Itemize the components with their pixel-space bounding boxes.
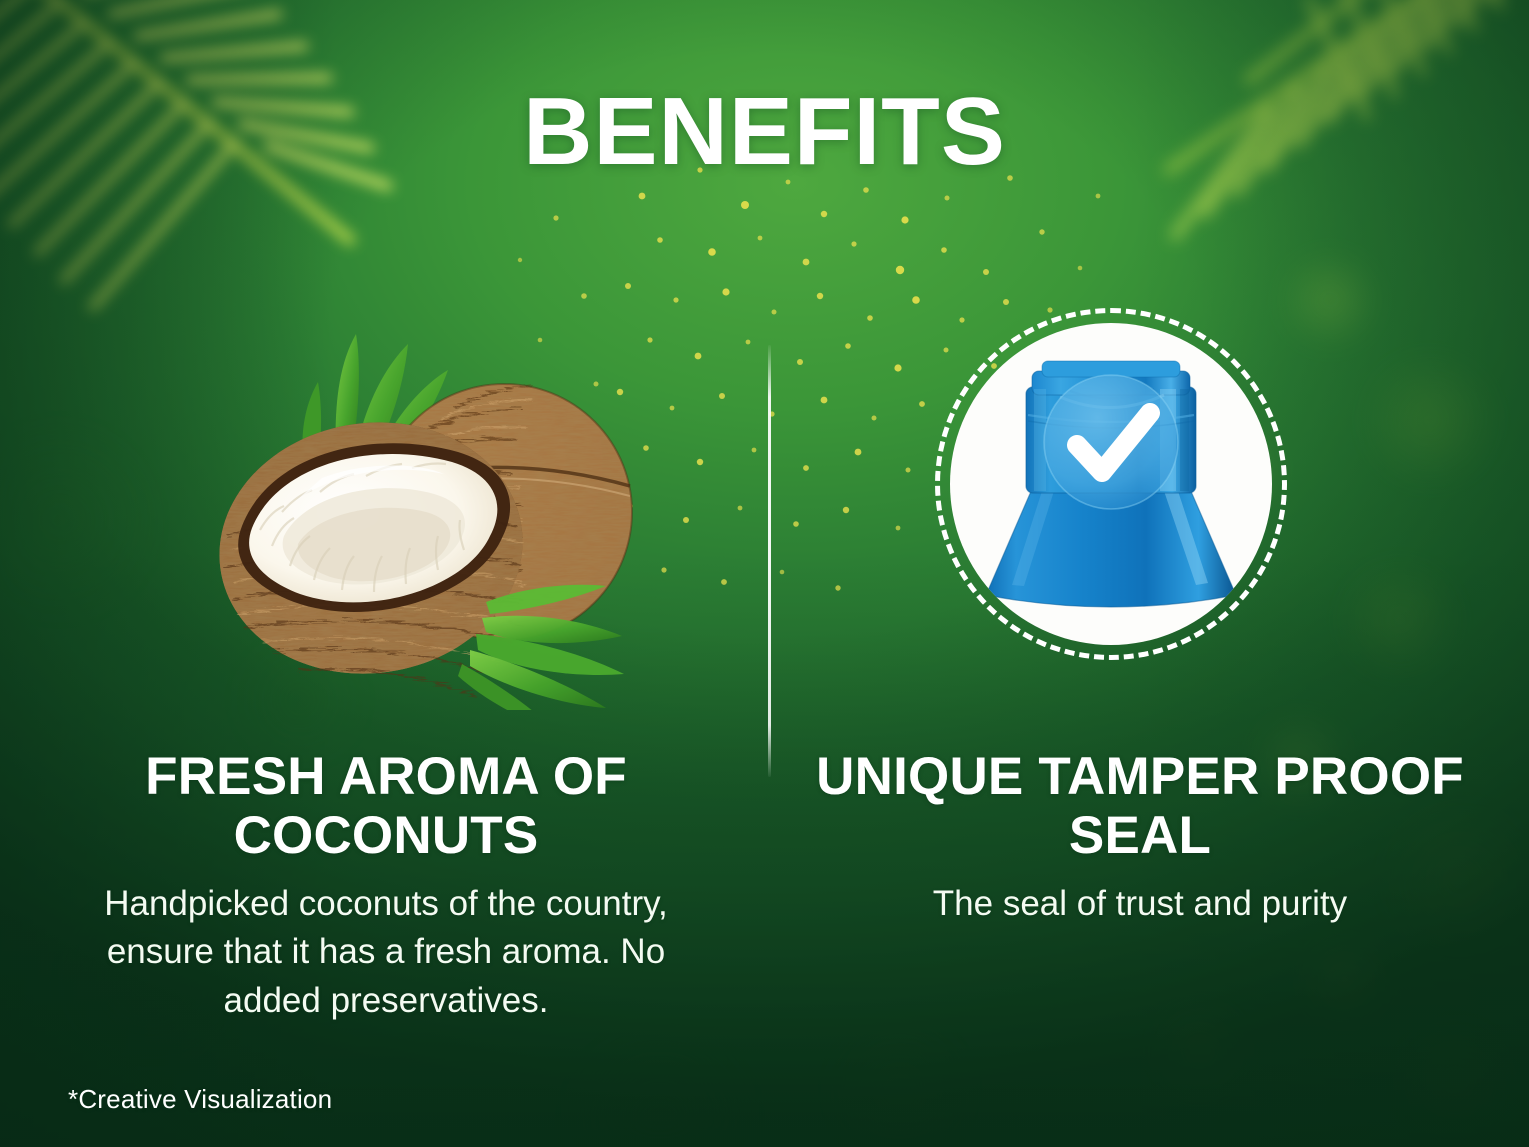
- bottle-cap-check-image: [950, 323, 1272, 645]
- benefit-description-right: The seal of trust and purity: [790, 880, 1490, 928]
- benefit-headline-left: FRESH AROMA OF COCONUTS: [36, 747, 736, 866]
- benefit-description-left: Handpicked coconuts of the country, ensu…: [56, 880, 716, 1025]
- column-divider: [768, 345, 771, 777]
- coconut-image: [186, 330, 656, 710]
- tamper-seal-badge: [935, 308, 1287, 660]
- benefit-headline-right: UNIQUE TAMPER PROOF SEAL: [790, 747, 1490, 866]
- white-circle-backdrop: [950, 323, 1272, 645]
- creative-visualization-footnote: *Creative Visualization: [68, 1084, 332, 1115]
- benefits-poster: BENEFITS: [0, 0, 1529, 1147]
- page-title: BENEFITS: [0, 84, 1529, 180]
